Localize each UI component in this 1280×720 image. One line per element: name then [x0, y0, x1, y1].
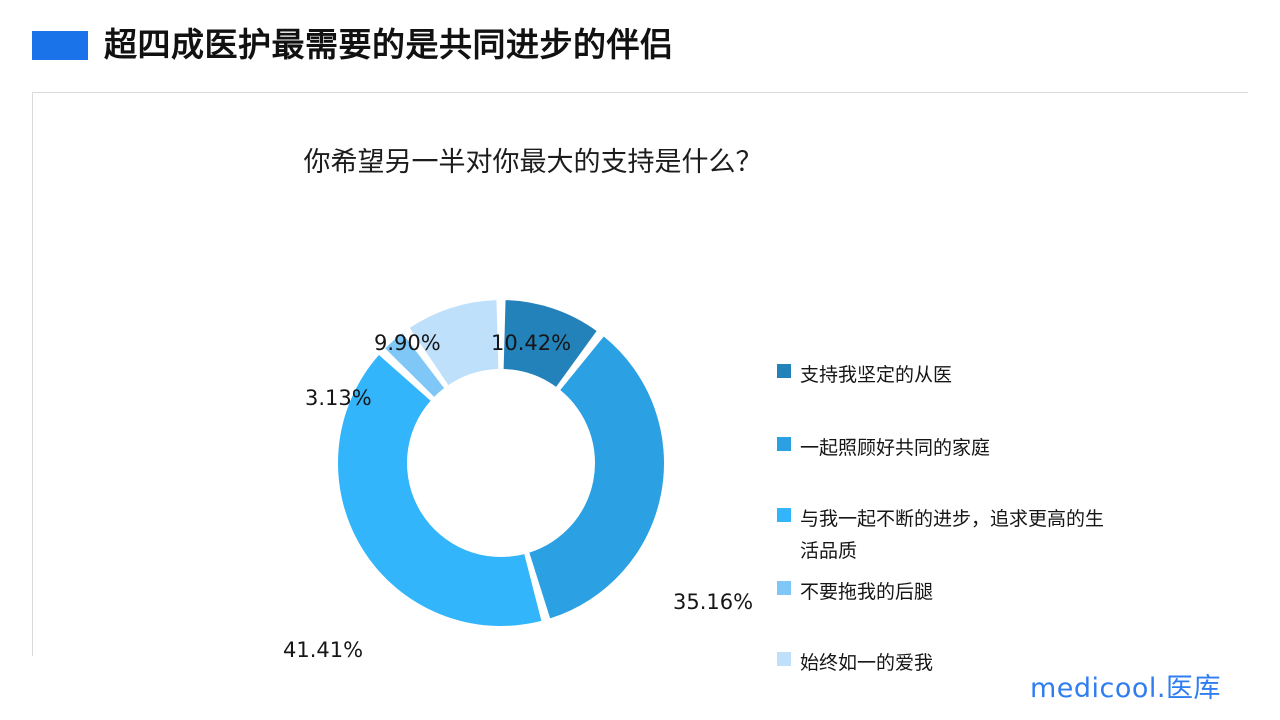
page-header: 超四成医护最需要的是共同进步的伴侣 — [0, 0, 1280, 92]
legend-label-1: 一起照顾好共同的家庭 — [800, 432, 990, 464]
data-label-0: 10.42% — [491, 331, 571, 355]
legend-swatch-icon-3 — [777, 581, 791, 595]
data-label-1: 35.16% — [673, 590, 753, 614]
legend-swatch-icon-4 — [777, 652, 791, 666]
header-accent-marker — [32, 31, 88, 60]
legend-label-2: 与我一起不断的进步，追求更高的生活品质 — [800, 503, 1120, 567]
data-label-3: 3.13% — [305, 386, 372, 410]
legend-item-4[interactable]: 始终如一的爱我 — [777, 647, 933, 679]
legend-item-1[interactable]: 一起照顾好共同的家庭 — [777, 432, 990, 464]
legend-swatch-icon-2 — [777, 508, 791, 522]
legend-label-4: 始终如一的爱我 — [800, 647, 933, 679]
legend-item-0[interactable]: 支持我坚定的从医 — [777, 359, 952, 391]
legend-label-0: 支持我坚定的从医 — [800, 359, 952, 391]
brand-logo: medicool.医库 — [1030, 666, 1221, 705]
donut-chart — [291, 253, 711, 673]
legend-item-3[interactable]: 不要拖我的后腿 — [777, 576, 933, 608]
page-title: 超四成医护最需要的是共同进步的伴侣 — [104, 18, 674, 72]
legend-item-2[interactable]: 与我一起不断的进步，追求更高的生活品质 — [777, 503, 1120, 567]
chart-title: 你希望另一半对你最大的支持是什么？ — [33, 140, 1033, 179]
legend-label-3: 不要拖我的后腿 — [800, 576, 933, 608]
donut-chart-svg — [291, 253, 711, 673]
legend-swatch-icon-1 — [777, 437, 791, 451]
chart-card: 你希望另一半对你最大的支持是什么？ 10.42% 35.16% 41.41% 3… — [32, 92, 1248, 656]
data-label-2: 41.41% — [283, 638, 363, 662]
data-label-4: 9.90% — [374, 331, 441, 355]
legend-swatch-icon-0 — [777, 364, 791, 378]
